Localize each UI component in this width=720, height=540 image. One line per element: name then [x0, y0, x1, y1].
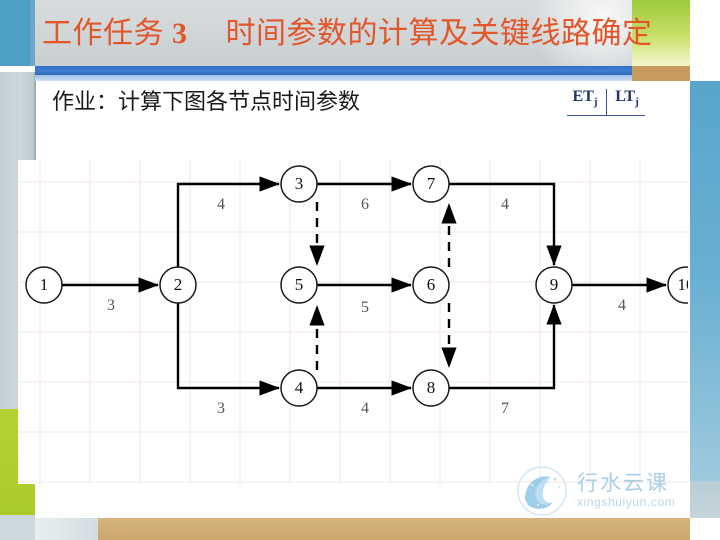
- wave-logo-icon: [515, 465, 573, 517]
- edge-label-5-6: 5: [361, 299, 369, 316]
- edge-label-3-7: 6: [361, 196, 369, 213]
- node-7-label: 7: [427, 174, 436, 193]
- page-title-prefix: 工作任务: [42, 17, 164, 50]
- left-accent-bottom: [0, 515, 35, 540]
- network-diagram-svg: 1 2 3 4 5 6 7: [18, 160, 688, 484]
- node-3[interactable]: 3: [281, 166, 317, 202]
- legend-et-subscript: j: [594, 96, 598, 108]
- edge-8-9: [449, 305, 554, 388]
- network-diagram-canvas: 1 2 3 4 5 6 7: [18, 160, 688, 484]
- node-4[interactable]: 4: [281, 370, 317, 406]
- legend-lt-subscript: j: [635, 96, 639, 108]
- legend-et-text: ET: [572, 88, 593, 105]
- bottom-right-white-accent: [690, 518, 720, 540]
- node-2[interactable]: 2: [160, 267, 196, 303]
- legend-early-time: ETj: [565, 88, 605, 108]
- node-9-label: 9: [550, 275, 559, 294]
- edge-2-3: [178, 184, 279, 267]
- watermark-url: xingshuiyun.com: [577, 495, 675, 509]
- edge-2-4: [178, 303, 279, 388]
- node-10-label: 10: [678, 275, 689, 294]
- edge-label-9-10: 4: [618, 297, 626, 314]
- node-1[interactable]: 1: [26, 267, 62, 303]
- page-title-number: 3: [172, 17, 188, 50]
- background-grid: [18, 160, 688, 484]
- node-6-label: 6: [427, 275, 436, 294]
- header-tan-accent: [632, 66, 690, 81]
- right-accent-top-white: [690, 66, 720, 81]
- subtitle: 作业：计算下图各节点时间参数: [52, 83, 360, 121]
- watermark-brand: 行水云课: [577, 467, 669, 497]
- right-accent-blue: [690, 81, 720, 481]
- edge-label-7-9: 4: [501, 196, 509, 213]
- bottom-silver-accent: [35, 518, 98, 540]
- legend-vertical-divider: [606, 89, 607, 115]
- node-4-label: 4: [295, 378, 304, 397]
- slide: 工作任务 3 时间参数的计算及关键线路确定 作业：计算下图各节点时间参数 ETj…: [0, 0, 720, 540]
- legend-horizontal-rule: [567, 115, 645, 116]
- page-title-rest: 时间参数的计算及关键线路确定: [226, 17, 653, 50]
- top-right-white-accent: [690, 0, 720, 66]
- node-8[interactable]: 8: [413, 370, 449, 406]
- header-underline-bar-light: [35, 75, 632, 81]
- node-3-label: 3: [295, 174, 304, 193]
- edge-label-2-3: 4: [217, 196, 225, 213]
- legend-lt-text: LT: [615, 88, 635, 105]
- edge-label-1-2: 3: [107, 297, 115, 314]
- edge-label-8-9: 7: [501, 400, 509, 417]
- edge-label-4-8: 4: [361, 400, 369, 417]
- node-10[interactable]: 10: [668, 267, 688, 303]
- node-7[interactable]: 7: [413, 166, 449, 202]
- left-accent-blue: [0, 0, 30, 66]
- header-underline-bar: [35, 66, 632, 75]
- et-lt-legend: ETj LTj: [565, 88, 649, 122]
- legend-late-time: LTj: [607, 88, 647, 108]
- watermark: 行水云课 xingshuiyun.com: [515, 465, 690, 520]
- node-8-label: 8: [427, 378, 436, 397]
- edge-label-2-4: 3: [217, 400, 225, 417]
- node-5[interactable]: 5: [281, 267, 317, 303]
- node-1-label: 1: [40, 275, 49, 294]
- bottom-tan-accent: [98, 518, 690, 540]
- node-2-label: 2: [174, 275, 183, 294]
- node-9[interactable]: 9: [536, 267, 572, 303]
- page-title: 工作任务 3 时间参数的计算及关键线路确定: [42, 8, 653, 60]
- node-5-label: 5: [295, 275, 304, 294]
- node-6[interactable]: 6: [413, 267, 449, 303]
